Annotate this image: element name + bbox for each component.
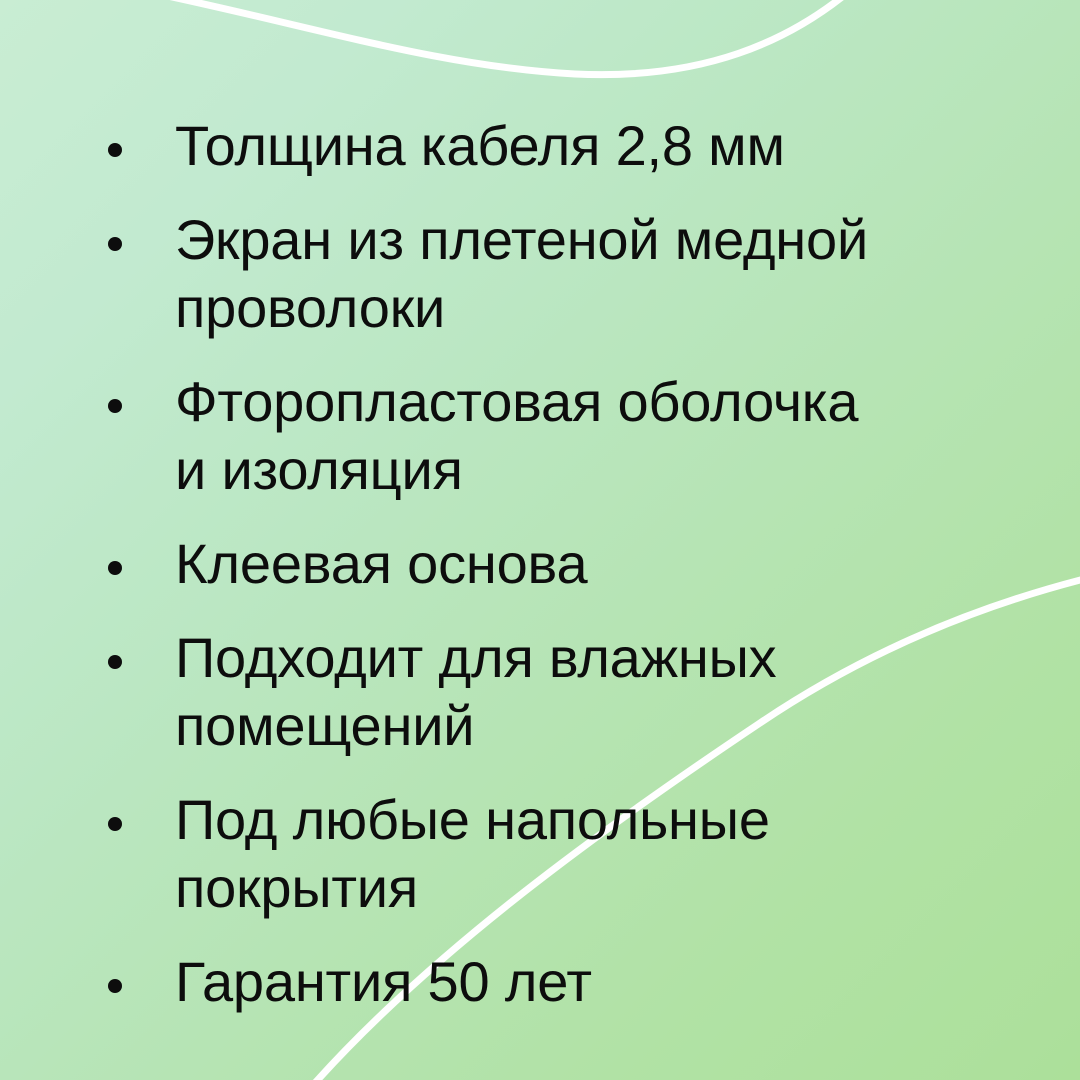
bullet-dot-icon (108, 817, 122, 831)
list-item: Подходит для влажных помещений (108, 624, 1008, 760)
bullet-dot-icon (108, 237, 122, 251)
feature-text: Подходит для влажных помещений (175, 624, 1008, 760)
bullet-dot-icon (108, 979, 122, 993)
feature-text: Экран из плетеной медной проволоки (175, 206, 1008, 342)
list-item: Под любые напольные покрытия (108, 786, 1008, 922)
top-wave-curve (120, 0, 860, 75)
list-item: Экран из плетеной медной проволоки (108, 206, 1008, 342)
feature-text: Гарантия 50 лет (175, 948, 1008, 1016)
feature-text: Толщина кабеля 2,8 мм (175, 112, 1008, 180)
bullet-dot-icon (108, 655, 122, 669)
bullet-dot-icon (108, 561, 122, 575)
feature-text: Под любые напольные покрытия (175, 786, 1008, 922)
bullet-dot-icon (108, 143, 122, 157)
list-item: Толщина кабеля 2,8 мм (108, 112, 1008, 180)
slide-canvas: Толщина кабеля 2,8 мм Экран из плетеной … (0, 0, 1080, 1080)
list-item: Клеевая основа (108, 530, 1008, 598)
list-item: Гарантия 50 лет (108, 948, 1008, 1016)
feature-text: Фторопластовая оболочка и изоляция (175, 368, 1008, 504)
feature-list: Толщина кабеля 2,8 мм Экран из плетеной … (108, 112, 1008, 1016)
feature-text: Клеевая основа (175, 530, 1008, 598)
bullet-dot-icon (108, 399, 122, 413)
list-item: Фторопластовая оболочка и изоляция (108, 368, 1008, 504)
